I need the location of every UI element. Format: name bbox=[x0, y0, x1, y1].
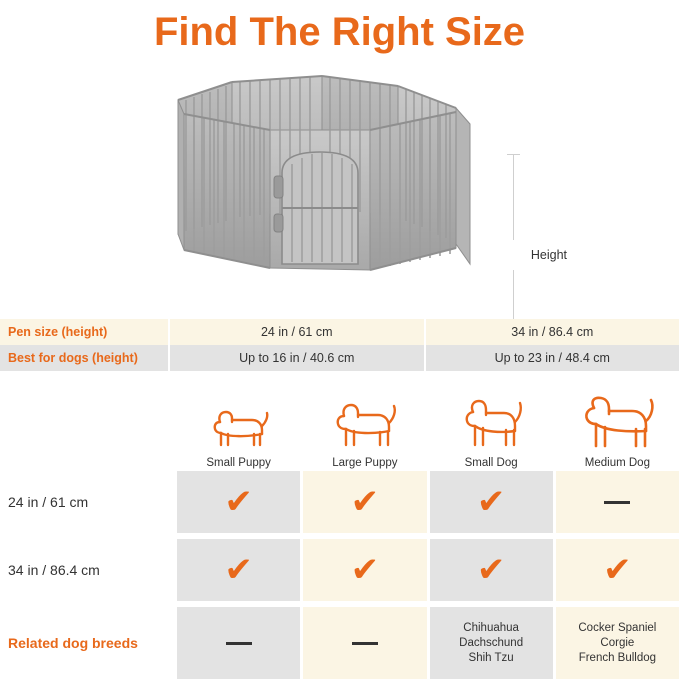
height-label: Height bbox=[531, 248, 567, 262]
matrix-cell-34in-large-puppy: ✔ bbox=[300, 539, 426, 601]
matrix-column-small-dog: Small Dog bbox=[427, 383, 553, 471]
matrix-cell-breeds-small-dog: Chihuahua Dachschund Shih Tzu bbox=[427, 607, 553, 679]
matrix-row-24in: 24 in / 61 cm ✔ ✔ ✔ bbox=[0, 471, 679, 533]
product-image-area: Height bbox=[0, 62, 679, 292]
matrix-row-label-34in: 34 in / 86.4 cm bbox=[0, 539, 174, 601]
check-icon: ✔ bbox=[224, 485, 253, 519]
check-icon: ✔ bbox=[477, 485, 506, 519]
spec-value-pen-size-large: 34 in / 86.4 cm bbox=[424, 319, 679, 345]
matrix-cell-breeds-large-puppy bbox=[300, 607, 426, 679]
check-icon: ✔ bbox=[603, 553, 632, 587]
matrix-cell-34in-small-dog: ✔ bbox=[427, 539, 553, 601]
spec-label-pen-size: Pen size (height) bbox=[0, 319, 168, 345]
dash-icon bbox=[226, 642, 252, 645]
matrix-column-label-small-dog: Small Dog bbox=[465, 457, 518, 469]
matrix-row-label-breeds: Related dog breeds bbox=[0, 607, 174, 679]
matrix-column-large-puppy: Large Puppy bbox=[300, 383, 426, 471]
spec-label-best-for-dogs: Best for dogs (height) bbox=[0, 345, 168, 371]
spec-value-best-for-dogs-small: Up to 16 in / 40.6 cm bbox=[168, 345, 424, 371]
matrix-cell-breeds-medium-dog: Cocker Spaniel Corgie French Bulldog bbox=[553, 607, 679, 679]
matrix-header-row: Small Puppy bbox=[0, 383, 679, 471]
height-guide-line-top bbox=[513, 154, 514, 240]
spec-value-best-for-dogs-large: Up to 23 in / 48.4 cm bbox=[424, 345, 679, 371]
check-icon: ✔ bbox=[224, 553, 253, 587]
matrix-row-34in: 34 in / 86.4 cm ✔ ✔ ✔ ✔ bbox=[0, 539, 679, 601]
matrix-cell-24in-small-dog: ✔ bbox=[427, 471, 553, 533]
matrix-cell-24in-large-puppy: ✔ bbox=[300, 471, 426, 533]
matrix-row-breeds: Related dog breeds Chihuahua Dachschund … bbox=[0, 607, 679, 679]
matrix-column-label-large-puppy: Large Puppy bbox=[332, 457, 397, 469]
breed-list-medium-dog: Cocker Spaniel Corgie French Bulldog bbox=[578, 621, 656, 666]
spec-value-pen-size-small: 24 in / 61 cm bbox=[168, 319, 424, 345]
height-tick-top bbox=[507, 154, 520, 155]
matrix-column-medium-dog: Medium Dog bbox=[553, 383, 679, 471]
large-puppy-icon bbox=[332, 398, 398, 454]
size-matrix: Small Puppy bbox=[0, 383, 679, 679]
matrix-cell-24in-medium-dog bbox=[553, 471, 679, 533]
matrix-row-label-24in: 24 in / 61 cm bbox=[0, 471, 174, 533]
medium-dog-icon bbox=[578, 398, 656, 454]
matrix-cell-34in-medium-dog: ✔ bbox=[553, 539, 679, 601]
matrix-column-small-puppy: Small Puppy bbox=[174, 383, 300, 471]
spec-table: Pen size (height) 24 in / 61 cm 34 in / … bbox=[0, 319, 679, 371]
check-icon: ✔ bbox=[351, 485, 380, 519]
dog-pen-illustration bbox=[170, 68, 500, 283]
matrix-cell-breeds-small-puppy bbox=[174, 607, 300, 679]
spec-row-pen-size: Pen size (height) 24 in / 61 cm 34 in / … bbox=[0, 319, 679, 345]
breed-list-small-dog: Chihuahua Dachschund Shih Tzu bbox=[459, 621, 523, 666]
matrix-header-corner bbox=[0, 383, 174, 471]
small-dog-icon bbox=[459, 398, 523, 454]
small-puppy-icon bbox=[208, 398, 270, 454]
matrix-cell-34in-small-puppy: ✔ bbox=[174, 539, 300, 601]
matrix-column-label-medium-dog: Medium Dog bbox=[585, 457, 650, 469]
check-icon: ✔ bbox=[477, 553, 506, 587]
check-icon: ✔ bbox=[351, 553, 380, 587]
matrix-cell-24in-small-puppy: ✔ bbox=[174, 471, 300, 533]
spec-row-best-for-dogs: Best for dogs (height) Up to 16 in / 40.… bbox=[0, 345, 679, 371]
dash-icon bbox=[352, 642, 378, 645]
page-title: Find The Right Size bbox=[0, 8, 679, 56]
dash-icon bbox=[604, 501, 630, 504]
matrix-column-label-small-puppy: Small Puppy bbox=[206, 457, 271, 469]
